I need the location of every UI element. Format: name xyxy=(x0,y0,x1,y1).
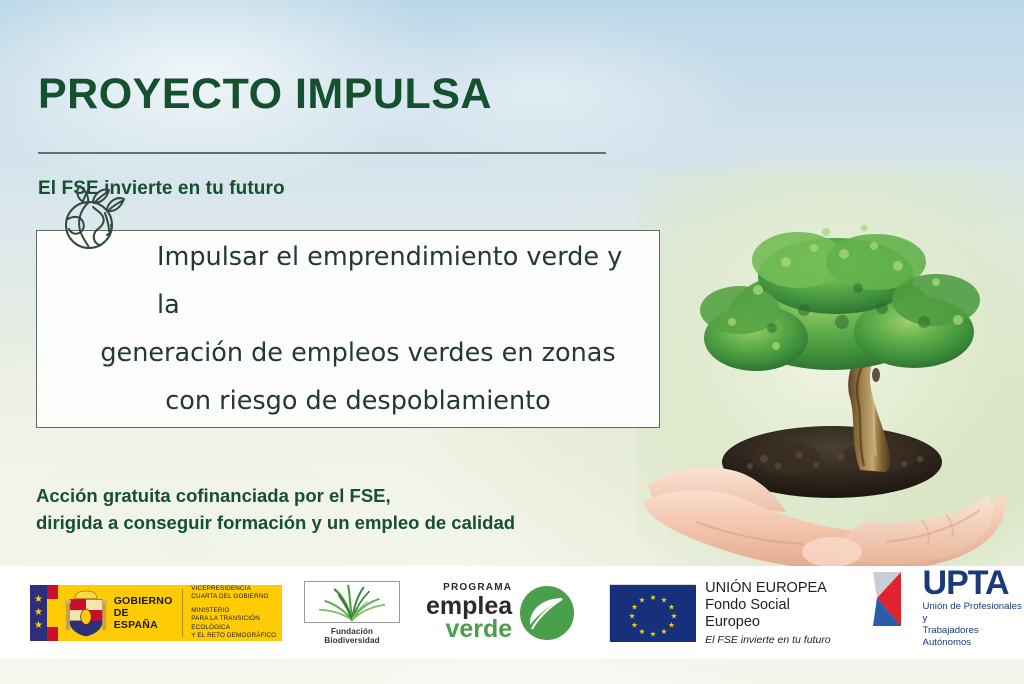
upta-sub-line-2: Trabajadores Autónomos xyxy=(923,625,1024,648)
upta-acronym: UPTA xyxy=(923,566,1024,600)
logo-programa-emplea-verde: PROGRAMA emplea verde xyxy=(426,566,575,659)
eu-flag-icon: ★ ★ ★ ★ ★ ★ ★ ★ ★ ★ ★ ★ xyxy=(609,584,695,641)
logo-union-europea: ★ ★ ★ ★ ★ ★ ★ ★ ★ ★ ★ ★ UN xyxy=(609,566,840,659)
svg-text:★: ★ xyxy=(668,603,675,612)
grass-tuft-icon xyxy=(304,581,400,623)
svg-text:★: ★ xyxy=(631,621,638,630)
spain-coat-of-arms-icon xyxy=(63,585,109,641)
logo-upta: UPTA Unión de Profesionales y Trabajador… xyxy=(871,566,1024,659)
gobierno-name-line2: DE ESPAÑA xyxy=(114,607,158,631)
eu-line-2: Fondo Social Europeo xyxy=(705,597,840,631)
svg-text:★: ★ xyxy=(639,627,646,636)
title-divider xyxy=(38,152,606,154)
leaf-in-circle-icon xyxy=(519,585,575,641)
closing-line-2: dirigida a conseguir formación y un empl… xyxy=(36,509,515,536)
eu-line-1: UNIÓN EUROPEA xyxy=(705,580,840,597)
globe-leaf-icon xyxy=(59,181,133,253)
emplea-verde-wordmark: PROGRAMA emplea verde xyxy=(426,583,512,642)
closing-copy: Acción gratuita cofinanciada por el FSE,… xyxy=(36,482,515,536)
ministry-line-2: CUARTA DEL GOBIERNO xyxy=(191,593,282,601)
statement-line-1: Impulsar el emprendimiento verde y la xyxy=(75,233,641,329)
svg-text:★: ★ xyxy=(661,596,668,605)
logo-fundacion-biodiversidad: Fundación Biodiversidad xyxy=(282,566,400,659)
svg-text:★: ★ xyxy=(631,603,638,612)
upta-text-block: UPTA Unión de Profesionales y Trabajador… xyxy=(923,566,1024,648)
ministry-line-5: Y EL RETO DEMOGRÁFICO xyxy=(191,632,282,640)
statement-line-2: generación de empleos verdes en zonas xyxy=(75,329,641,377)
statement-text: Impulsar el emprendimiento verde y la ge… xyxy=(63,233,641,425)
ministry-block: VICEPRESIDENCIA CUARTA DEL GOBIERNO MINI… xyxy=(191,585,282,641)
svg-text:★: ★ xyxy=(639,596,646,605)
logo-gobierno-de-espana: ★★★ xyxy=(0,566,282,659)
statement-box: Impulsar el emprendimiento verde y la ge… xyxy=(36,230,660,428)
upta-k-chevron-icon xyxy=(871,568,927,630)
gobierno-divider xyxy=(182,589,183,637)
svg-text:★: ★ xyxy=(671,612,678,621)
verde-word: verde xyxy=(426,617,512,642)
gobierno-name: GOBIERNO DE ESPAÑA xyxy=(110,585,173,641)
svg-text:★: ★ xyxy=(661,627,668,636)
ministry-line-4: PARA LA TRANSICIÓN ECOLÓGICA xyxy=(191,615,282,632)
eu-text-block: UNIÓN EUROPEA Fondo Social Europeo El FS… xyxy=(705,580,840,646)
svg-text:★: ★ xyxy=(629,612,636,621)
svg-text:★: ★ xyxy=(650,630,657,639)
spain-flag-strip-icon: ★★★ xyxy=(30,585,63,641)
closing-line-1: Acción gratuita cofinanciada por el FSE, xyxy=(36,482,515,509)
gobierno-name-line1: GOBIERNO xyxy=(114,595,173,607)
statement-line-3: con riesgo de despoblamiento xyxy=(75,377,641,425)
upta-sub-line-1: Unión de Profesionales y xyxy=(923,601,1024,624)
svg-text:★: ★ xyxy=(650,593,657,602)
fundacion-caption: Fundación Biodiversidad xyxy=(304,627,400,645)
eu-tagline: El FSE invierte en tu futuro xyxy=(705,634,840,646)
statement-inner: Impulsar el emprendimiento verde y la ge… xyxy=(37,233,659,425)
poster-canvas: PROYECTO IMPULSA El FSE invierte en tu f… xyxy=(0,0,1024,684)
bonsai-in-hands-photo xyxy=(636,170,1024,570)
svg-text:★: ★ xyxy=(668,621,675,630)
page-title: PROYECTO IMPULSA xyxy=(38,72,492,117)
ministry-line-1: VICEPRESIDENCIA xyxy=(191,585,282,593)
logo-bar: ★★★ xyxy=(0,566,1024,659)
